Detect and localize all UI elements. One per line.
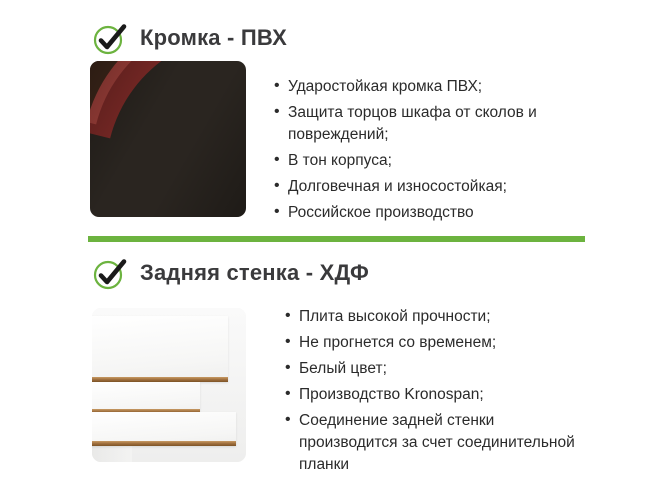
photo-canvas <box>92 308 246 462</box>
hdf-panel-middle <box>92 382 200 414</box>
list-item: Производство Kronospan; <box>285 384 585 406</box>
hdf-back-panel-photo <box>92 308 246 462</box>
list-item: Белый цвет; <box>285 358 585 380</box>
pvc-edge-banding-photo <box>90 61 246 217</box>
feature-list-page: Кромка - ПВХ Ударостойкая кромка ПВХ; За… <box>0 0 652 500</box>
green-divider <box>88 236 585 242</box>
check-circle-icon <box>92 255 128 291</box>
photo-canvas <box>90 61 246 217</box>
list-item: Соединение задней стенки производится за… <box>285 410 585 476</box>
hdf-panel-front <box>92 412 236 446</box>
list-item: Ударостойкая кромка ПВХ; <box>274 76 574 98</box>
check-circle-icon <box>92 20 128 56</box>
section-header-back-panel-hdf: Задняя стенка - ХДФ <box>92 255 369 291</box>
hdf-panel-back <box>92 316 228 382</box>
section-header-edge-pvc: Кромка - ПВХ <box>92 20 287 56</box>
feature-list-back-panel-hdf: Плита высокой прочности; Не прогнется со… <box>285 306 585 480</box>
list-item: Плита высокой прочности; <box>285 306 585 328</box>
list-item: Долговечная и износостойкая; <box>274 176 574 198</box>
section-title: Кромка - ПВХ <box>140 25 287 51</box>
feature-list-edge-pvc: Ударостойкая кромка ПВХ; Защита торцов ш… <box>274 76 574 228</box>
list-item: В тон корпуса; <box>274 150 574 172</box>
section-title: Задняя стенка - ХДФ <box>140 260 369 286</box>
list-item: Защита торцов шкафа от сколов и поврежде… <box>274 102 574 146</box>
list-item: Российское производство <box>274 202 574 224</box>
photo-shading <box>90 61 246 217</box>
list-item: Не прогнется со временем; <box>285 332 585 354</box>
